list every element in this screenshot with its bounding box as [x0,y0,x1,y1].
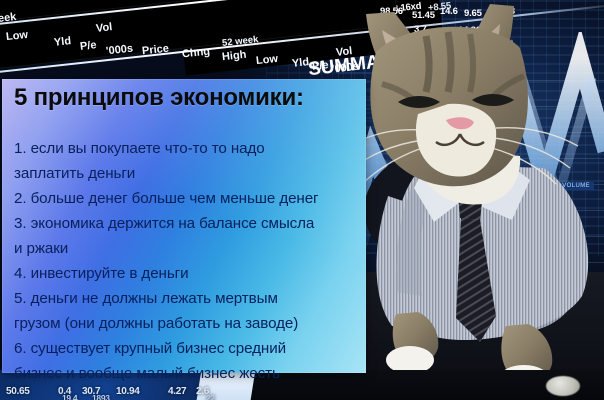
meme-line: 2. больше денег больше чем меньше денег [14,186,356,211]
forehead-stripe-1 [426,36,429,92]
meme-title: 5 принципов экономики: [14,85,356,110]
bottom-ticker-number: 22 [206,393,215,400]
meme-line: 4. инвестируйте в деньги [14,261,356,286]
meme-text-panel: 5 принципов экономики: 1. если вы покупа… [2,79,366,373]
ticker-header-vol: Vol [95,21,112,35]
meme-line: и ржаки [14,236,356,261]
meme-line: 6. существует крупный бизнес средний [14,336,356,361]
meme-line: 3. экономика держится на балансе смысла [14,211,356,236]
ticker-header-low: Low [5,29,28,43]
bottom-ticker-number: 10.94 [116,386,140,397]
meme-line: 5. деньги не должны лежать мертвым [14,286,356,311]
meme-line: заплатить деньги [14,161,356,186]
business-cat [330,0,604,400]
ticker-header-low2: Low [255,53,278,67]
meme-line: грузом (они должны работать на заводе) [14,311,356,336]
bottom-ticker-number: 50.65 [6,386,30,397]
bottom-ticker-number: 4.27 [168,386,186,397]
forehead-stripe-3 [470,34,473,92]
bottom-ticker-number: 19.4 [62,393,77,400]
meme-line: 1. если вы покупаете что-то то надо [14,136,356,161]
bottom-right-highlight [546,376,580,396]
meme-lines-list: 1. если вы покупаете что-то то надо запл… [14,136,356,386]
meme-image: MARKET VOLUME 11.5 38.54 24.51 3.2 13.7 … [0,0,604,400]
meme-line: бизнес и вообще малый бизнес жесть [14,361,356,386]
forehead-stripe-2 [448,32,451,92]
cat-head [344,4,578,186]
ticker-header-eek: eek [0,11,17,25]
bottom-ticker-number: 1893 [92,393,110,400]
ticker-header-pe: P/e [79,39,97,53]
ticker-header-yld: Yld [53,35,71,49]
